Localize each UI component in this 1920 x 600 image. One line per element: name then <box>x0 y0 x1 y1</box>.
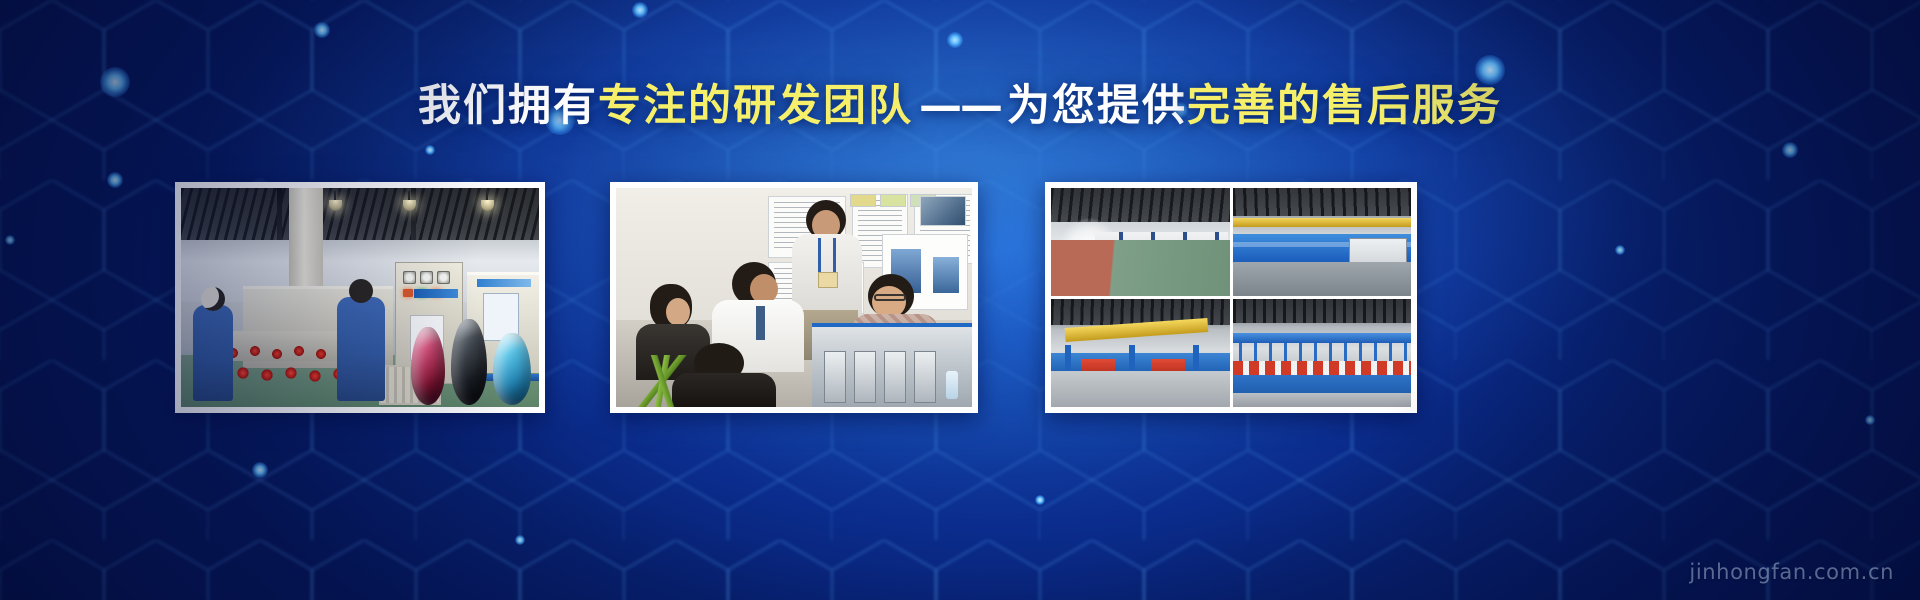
cabinet-label <box>414 289 458 298</box>
roof-beam <box>411 188 416 246</box>
poster-photo-thumb <box>920 196 966 226</box>
glass-vase-showcase <box>409 311 535 407</box>
page-title: 我们拥有专注的研发团队——为您提供完善的售后服务 <box>0 78 1920 134</box>
photo-card-production-line[interactable] <box>175 182 545 413</box>
photo-production-line <box>181 188 539 407</box>
factory-worker <box>337 297 385 401</box>
plant-floor <box>1233 393 1412 407</box>
vase-black <box>451 319 487 405</box>
headline-dash: —— <box>913 81 1007 131</box>
machine-cabinet <box>914 351 936 403</box>
photo-equipment-collage <box>1051 188 1411 407</box>
photo-gallery <box>0 182 1920 414</box>
factory-ceiling <box>1233 188 1412 216</box>
site-watermark: jinhongfan.com.cn <box>1689 560 1894 584</box>
worker-head <box>349 279 373 303</box>
water-bottle <box>946 371 958 399</box>
gauge-icon <box>437 271 450 284</box>
machine-cabinet <box>884 351 906 403</box>
factory-worker <box>193 305 233 401</box>
plant-floor <box>1051 240 1230 296</box>
lanyard-icon <box>818 238 836 272</box>
collage-cell-ducting <box>1233 188 1412 296</box>
collage-cell-conveyor <box>1051 299 1230 407</box>
gauge-icon <box>403 271 416 284</box>
headline-segment-1: 我们拥有 <box>418 81 598 131</box>
potted-plant <box>618 355 708 407</box>
poster-swatch <box>880 194 906 207</box>
headline-segment-2: 专注的研发团队 <box>598 81 913 131</box>
vase-blue <box>493 333 531 405</box>
promo-banner: 我们拥有专注的研发团队——为您提供完善的售后服务 <box>0 0 1920 600</box>
factory-ceiling <box>1233 299 1412 323</box>
collage-cell-hanger-line <box>1233 299 1412 407</box>
hanger-rail <box>1233 333 1412 343</box>
indicator-led <box>403 289 413 297</box>
plant-floor <box>1233 262 1412 296</box>
machine-cabinet <box>824 351 846 403</box>
photo-meeting-room <box>616 188 972 407</box>
collage-cell-oven-line <box>1051 188 1230 296</box>
person-face <box>666 298 690 326</box>
machine-cabinet <box>854 351 876 403</box>
necktie <box>756 306 765 340</box>
yellow-pipe <box>1233 218 1412 227</box>
photo-card-equipment-collage[interactable] <box>1045 182 1417 413</box>
eyeglasses-icon <box>874 294 906 301</box>
factory-ceiling <box>1051 188 1230 222</box>
photo-card-meeting-room[interactable] <box>610 182 978 413</box>
vase-red <box>411 327 445 405</box>
id-badge <box>818 272 838 288</box>
plant-floor <box>1051 371 1230 407</box>
headline-segment-4: 完善的售后服务 <box>1187 81 1502 131</box>
oven-label <box>477 279 531 287</box>
roof-beam <box>277 188 282 246</box>
headline-segment-3: 为您提供 <box>1007 81 1187 131</box>
worker-head <box>201 287 225 311</box>
gauge-icon <box>420 271 433 284</box>
